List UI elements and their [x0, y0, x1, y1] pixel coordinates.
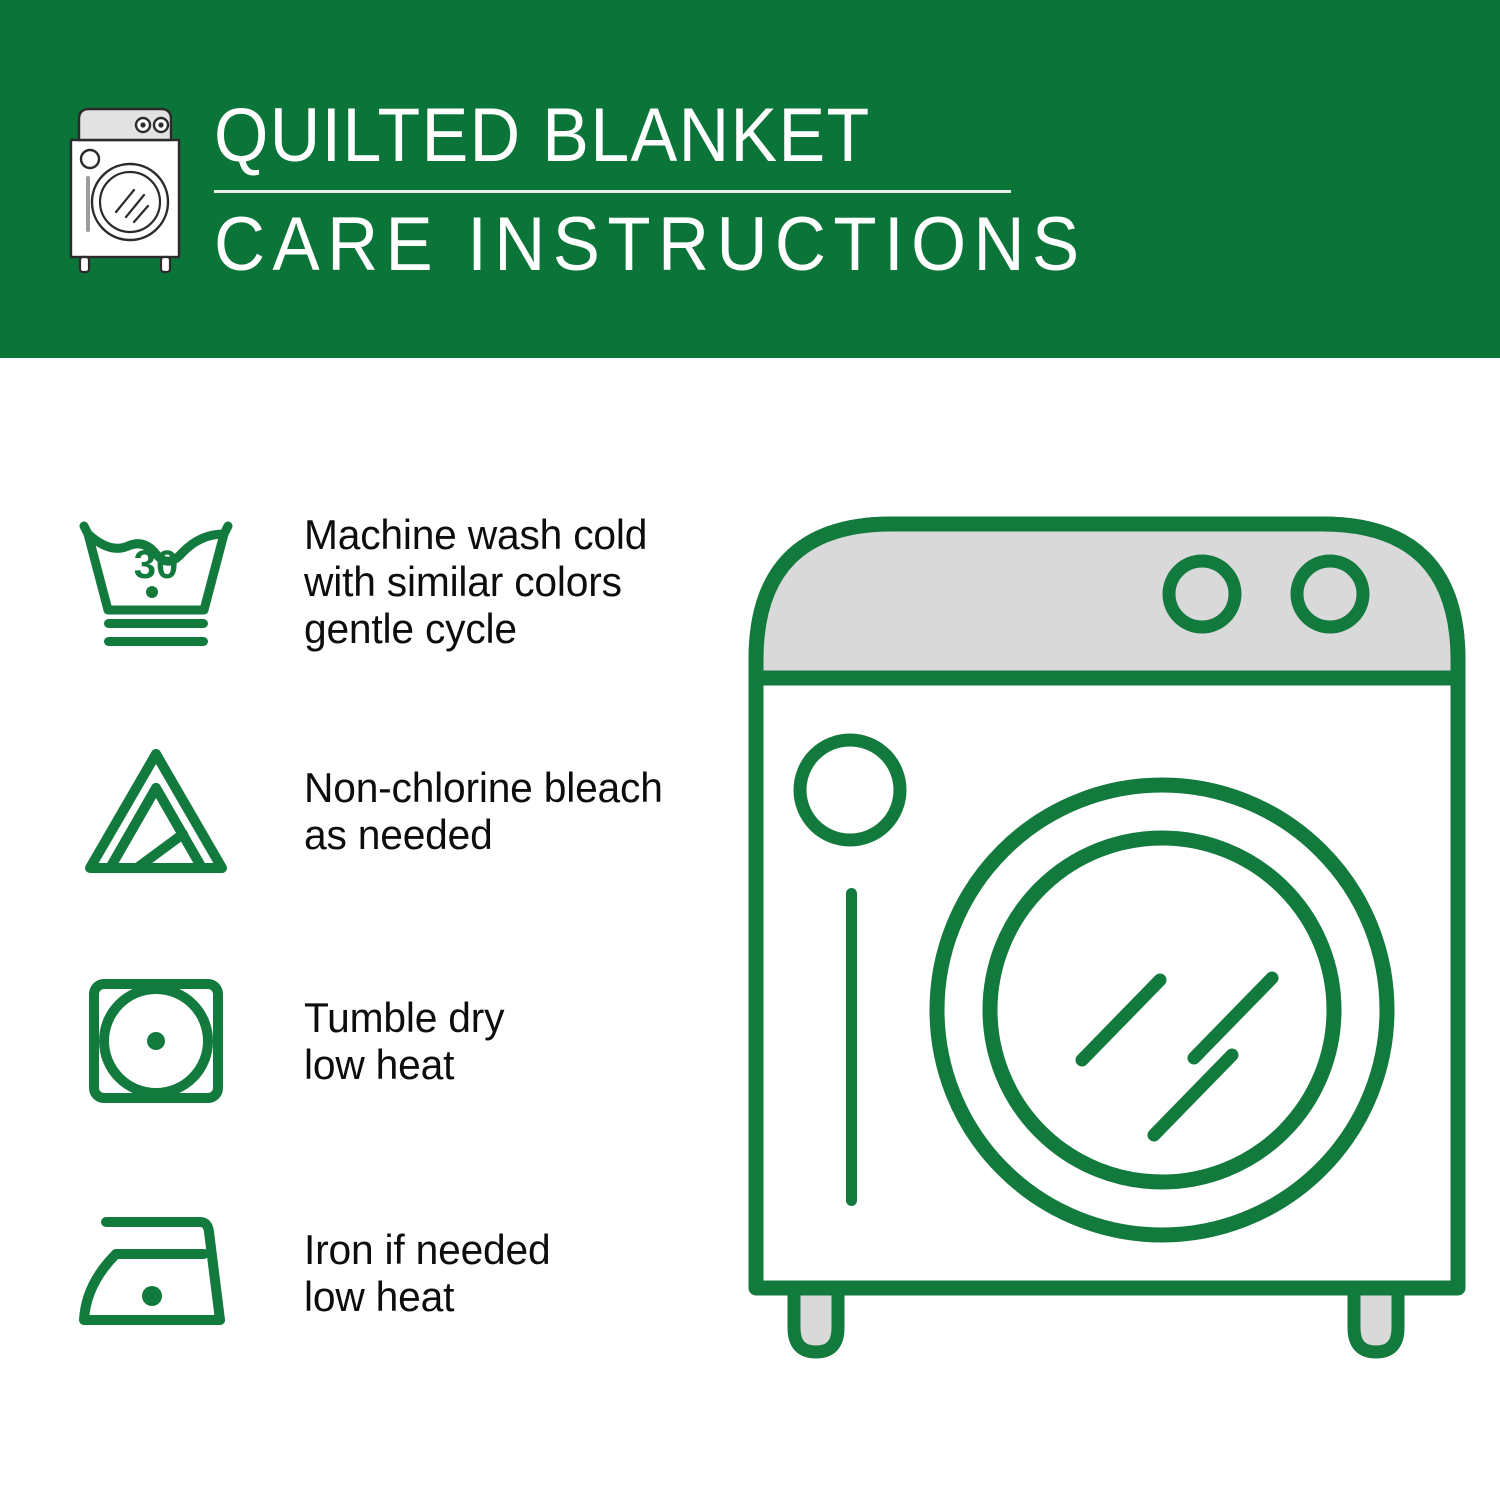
- page-title: QUILTED BLANKET: [214, 96, 1077, 176]
- wash-temperature-value: 30: [134, 543, 179, 587]
- care-row: Iron if needed low heat: [72, 1198, 558, 1348]
- washer-indicator-bar: [846, 888, 857, 1206]
- header-banner: QUILTED BLANKET CARE INSTRUCTIONS: [0, 0, 1500, 358]
- iron-low-heat-symbol: [72, 1198, 240, 1348]
- washer-knob-left[interactable]: [1169, 561, 1235, 627]
- care-row: 30 Machine wash cold with similar colors…: [72, 506, 658, 656]
- washer-knob-right[interactable]: [1297, 561, 1363, 627]
- care-instruction-list: 30 Machine wash cold with similar colors…: [0, 358, 740, 1500]
- care-row-label: Iron if needed low heat: [304, 1226, 550, 1320]
- care-row-label: Machine wash cold with similar colors ge…: [304, 511, 647, 652]
- tumble-dry-low-symbol: [72, 966, 240, 1116]
- front-load-washing-machine-illustration: [742, 490, 1472, 1420]
- care-row-label: Non-chlorine bleach as needed: [304, 764, 663, 858]
- machine-wash-30-gentle-symbol: 30: [72, 506, 240, 656]
- care-row: Tumble dry low heat: [72, 966, 511, 1116]
- page-subtitle: CARE INSTRUCTIONS: [214, 205, 1087, 285]
- care-row-label: Tumble dry low heat: [304, 994, 504, 1088]
- non-chlorine-bleach-symbol: [72, 736, 240, 886]
- washing-machine-icon: [62, 102, 192, 277]
- title-divider: [214, 190, 1011, 193]
- title-block: QUILTED BLANKET CARE INSTRUCTIONS: [214, 96, 1152, 285]
- header-content: QUILTED BLANKET CARE INSTRUCTIONS: [62, 96, 1152, 285]
- washer-dispenser-icon: [800, 740, 900, 840]
- care-row: Non-chlorine bleach as needed: [72, 736, 674, 886]
